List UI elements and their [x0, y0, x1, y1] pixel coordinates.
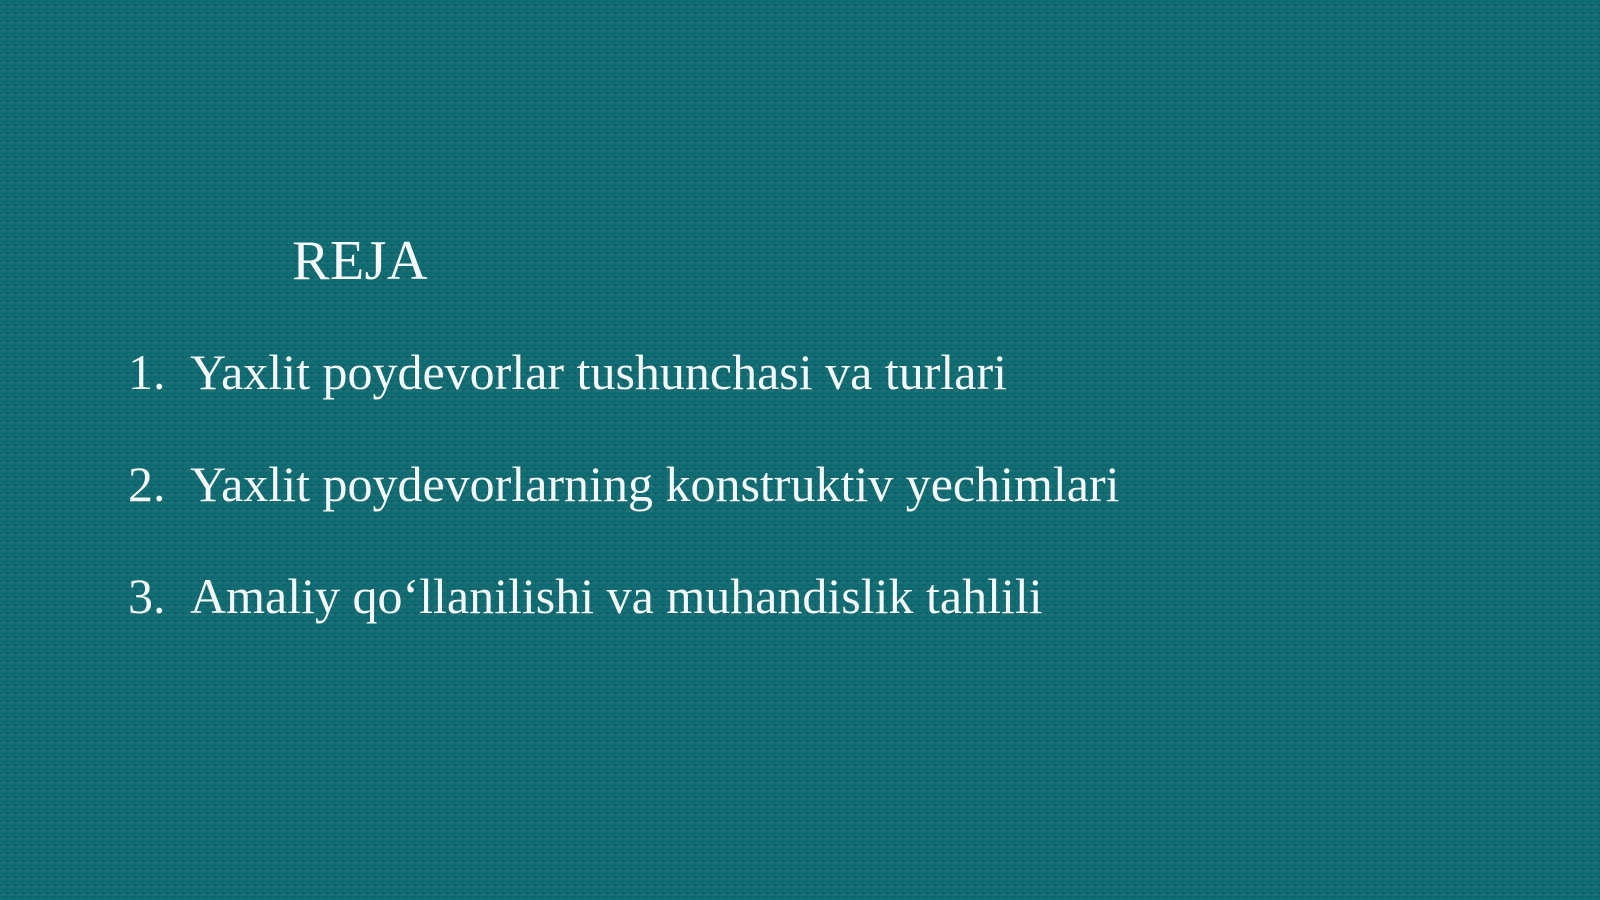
- list-item-label: Yaxlit poydevorlar tushunchasi va turlar…: [190, 344, 1007, 400]
- list-item-number: 3.: [128, 568, 190, 624]
- list-item: 3. Amaliy qo‘llanilishi va muhandislik t…: [128, 568, 1468, 624]
- list-item-label: Yaxlit poydevorlarning konstruktiv yechi…: [190, 456, 1120, 512]
- page-title: REJA: [0, 232, 1600, 291]
- list-item: 1. Yaxlit poydevorlar tushunchasi va tur…: [128, 344, 1468, 400]
- list-item: 2. Yaxlit poydevorlarning konstruktiv ye…: [128, 456, 1468, 512]
- agenda-list: 1. Yaxlit poydevorlar tushunchasi va tur…: [128, 344, 1468, 624]
- list-item-number: 1.: [128, 344, 190, 400]
- list-item-number: 2.: [128, 456, 190, 512]
- presentation-slide: REJA 1. Yaxlit poydevorlar tushunchasi v…: [0, 0, 1600, 900]
- slide-content: REJA 1. Yaxlit poydevorlar tushunchasi v…: [0, 0, 1600, 900]
- list-item-label: Amaliy qo‘llanilishi va muhandislik tahl…: [190, 568, 1043, 624]
